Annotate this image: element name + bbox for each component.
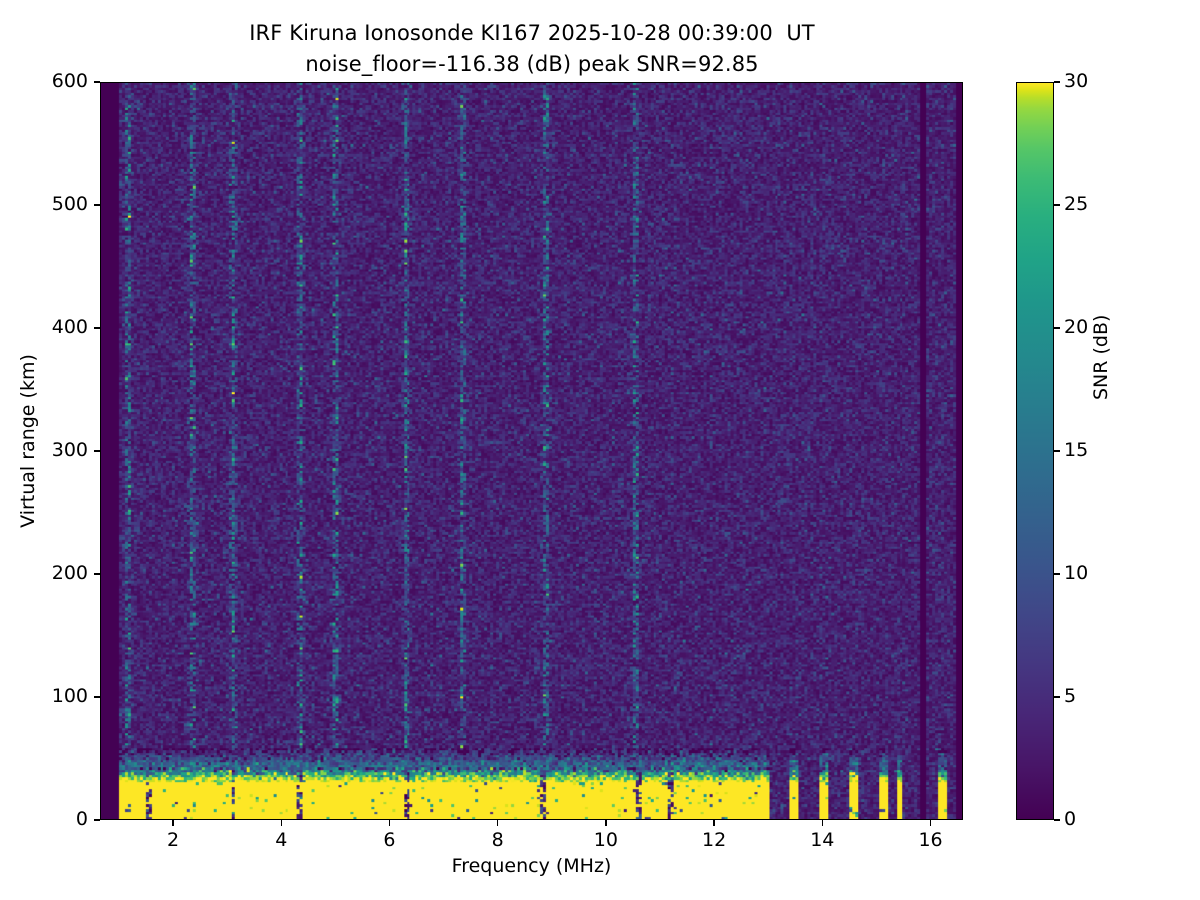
- y-tick-mark: [94, 819, 100, 820]
- x-tick-label: 2: [143, 829, 203, 851]
- colorbar-tick-label: 15: [1064, 439, 1088, 461]
- x-tick-mark: [172, 820, 173, 826]
- x-tick-label: 14: [792, 829, 852, 851]
- title-line-1: IRF Kiruna Ionosonde KI167 2025-10-28 00…: [0, 18, 1064, 49]
- y-tick-mark: [94, 327, 100, 328]
- colorbar-tick-mark: [1054, 450, 1060, 451]
- colorbar: [1016, 82, 1054, 820]
- colorbar-tick-label: 5: [1064, 685, 1076, 707]
- colorbar-tick-label: 30: [1064, 70, 1088, 92]
- colorbar-label: SNR (dB): [1090, 200, 1112, 400]
- ionogram-heatmap-canvas: [101, 83, 962, 819]
- y-tick-label: 400: [0, 316, 88, 338]
- x-tick-label: 4: [251, 829, 311, 851]
- x-tick-mark: [281, 820, 282, 826]
- x-tick-mark: [605, 820, 606, 826]
- ionogram-plot-area: [100, 82, 963, 820]
- colorbar-tick-mark: [1054, 327, 1060, 328]
- x-tick-mark: [713, 820, 714, 826]
- x-axis-label: Frequency (MHz): [100, 855, 963, 877]
- x-tick-label: 6: [359, 829, 419, 851]
- x-tick-mark: [930, 820, 931, 826]
- y-tick-label: 500: [0, 193, 88, 215]
- y-tick-mark: [94, 81, 100, 82]
- colorbar-tick-label: 20: [1064, 316, 1088, 338]
- colorbar-tick-label: 10: [1064, 562, 1088, 584]
- x-tick-label: 10: [576, 829, 636, 851]
- y-tick-mark: [94, 696, 100, 697]
- y-tick-mark: [94, 204, 100, 205]
- y-tick-label: 200: [0, 562, 88, 584]
- y-axis-label: Virtual range (km): [17, 341, 39, 541]
- x-tick-mark: [822, 820, 823, 826]
- colorbar-tick-mark: [1054, 819, 1060, 820]
- x-tick-label: 16: [901, 829, 961, 851]
- colorbar-tick-label: 0: [1064, 808, 1076, 830]
- y-tick-mark: [94, 573, 100, 574]
- x-tick-label: 8: [468, 829, 528, 851]
- x-tick-mark: [497, 820, 498, 826]
- y-tick-label: 300: [0, 439, 88, 461]
- y-tick-label: 0: [0, 808, 88, 830]
- y-tick-label: 600: [0, 70, 88, 92]
- colorbar-tick-mark: [1054, 81, 1060, 82]
- colorbar-tick-mark: [1054, 573, 1060, 574]
- y-tick-mark: [94, 450, 100, 451]
- colorbar-tick-mark: [1054, 204, 1060, 205]
- x-tick-label: 12: [684, 829, 744, 851]
- ionogram-figure: IRF Kiruna Ionosonde KI167 2025-10-28 00…: [0, 0, 1200, 900]
- colorbar-tick-label: 25: [1064, 193, 1088, 215]
- figure-title: IRF Kiruna Ionosonde KI167 2025-10-28 00…: [0, 18, 1064, 80]
- title-line-2: noise_floor=-116.38 (dB) peak SNR=92.85: [0, 49, 1064, 80]
- y-tick-label: 100: [0, 685, 88, 707]
- colorbar-tick-mark: [1054, 696, 1060, 697]
- x-tick-mark: [389, 820, 390, 826]
